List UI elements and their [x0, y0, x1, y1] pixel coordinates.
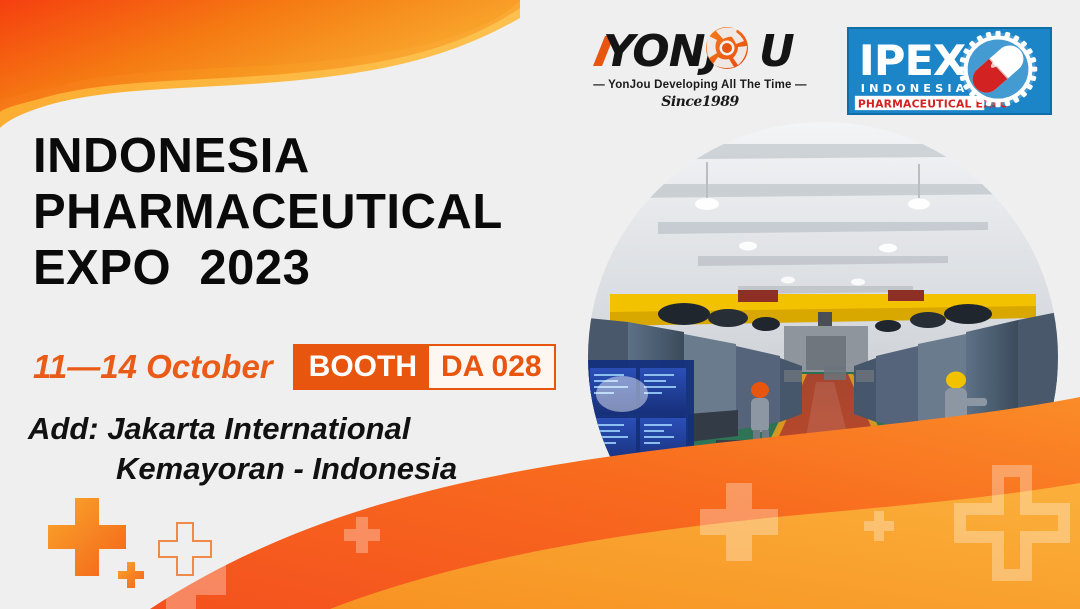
cross-icon-large-solid	[48, 498, 126, 581]
headline-line-1: INDONESIA	[33, 128, 578, 184]
date-and-booth-row: 11—14 October BOOTH DA 028	[33, 344, 556, 390]
venue-address: Add: Jakarta International Kemayoran - I…	[28, 409, 548, 489]
yonjou-since: Since1989	[585, 94, 815, 110]
yonjou-tagline: — YonJou Developing All The Time —	[585, 79, 815, 91]
address-line-1: Add: Jakarta International	[28, 409, 548, 449]
page-title: INDONESIA PHARMACEUTICAL EXPO 2023	[33, 128, 578, 296]
svg-text:YONJ: YONJ	[603, 26, 721, 77]
factory-photo: YONJOU	[588, 122, 1058, 592]
svg-text:YONJOU: YONJOU	[593, 478, 643, 491]
svg-text:IPEX: IPEX	[859, 36, 966, 85]
yonjou-logo: YONJ	[585, 26, 815, 126]
headline-line-3: EXPO 2023	[33, 240, 578, 296]
booth-number: DA 028	[429, 346, 554, 388]
yonjou-wordmark: YONJ	[585, 26, 815, 78]
event-dates: 11—14 October	[33, 344, 273, 390]
cross-outline-icon	[158, 522, 212, 581]
expo-promo-banner: YONJOU	[0, 0, 1080, 609]
headline-line-2: PHARMACEUTICAL	[33, 184, 578, 240]
svg-text:U: U	[759, 26, 795, 77]
cross-icon-small-solid	[118, 562, 144, 593]
svg-text:INDONESIA: INDONESIA	[861, 82, 969, 95]
ipex-logo: IPEX INDONESIA PHARMACEUTICAL EXPO	[847, 27, 1052, 115]
booth-badge: BOOTH DA 028	[293, 344, 556, 390]
booth-label: BOOTH	[295, 346, 429, 388]
address-line-2: Kemayoran - Indonesia	[28, 449, 548, 489]
